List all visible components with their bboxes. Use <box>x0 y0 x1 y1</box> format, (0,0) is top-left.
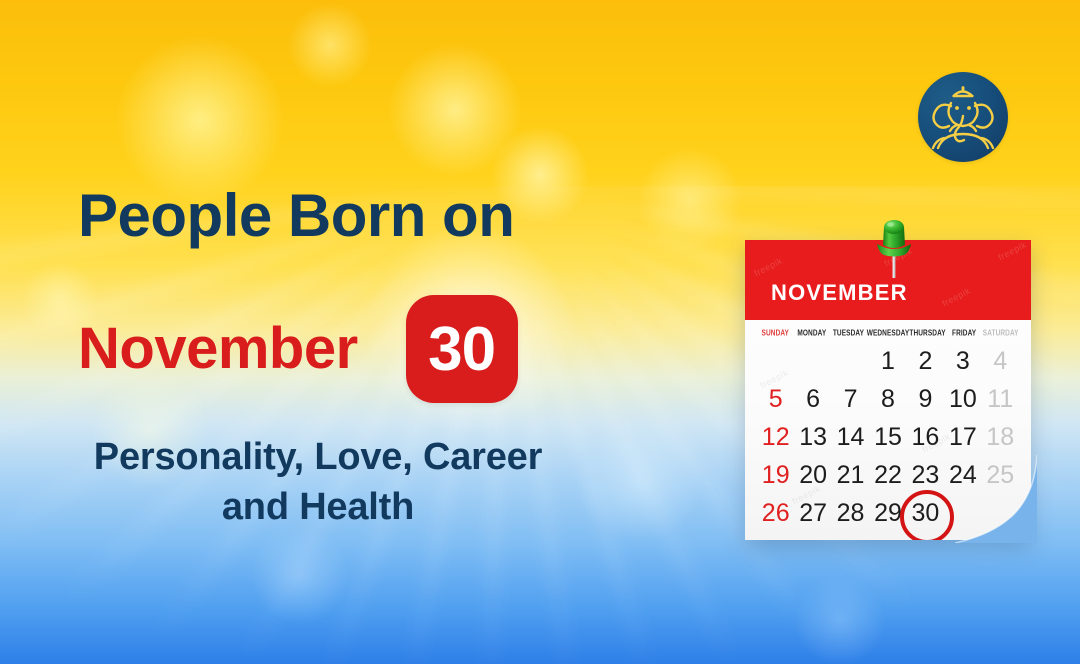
calendar-day-26[interactable]: 26 <box>757 495 794 531</box>
calendar-day-2[interactable]: 2 <box>907 343 944 379</box>
calendar-day-15[interactable]: 15 <box>869 419 906 455</box>
calendar-day-empty <box>832 343 869 379</box>
calendar-weekday-friday: FRIDAY <box>946 329 983 338</box>
month-day-line: November 30 <box>78 295 518 403</box>
calendar-day-21[interactable]: 21 <box>832 457 869 493</box>
calendar-weekday-wednesday: WEDNESDAY <box>867 329 910 338</box>
calendar-day-4[interactable]: 4 <box>982 343 1019 379</box>
watermark: freepik <box>996 240 1028 263</box>
calendar-corner-mask <box>955 455 1037 543</box>
calendar-day-9[interactable]: 9 <box>907 381 944 417</box>
calendar-day-3[interactable]: 3 <box>944 343 981 379</box>
calendar-weekday-saturday: SATURDAY <box>982 329 1019 338</box>
calendar-day-1[interactable]: 1 <box>869 343 906 379</box>
page-title: People Born on <box>78 184 514 248</box>
watermark: freepik <box>752 255 784 278</box>
page-subtitle: Personality, Love, Career and Health <box>78 432 558 532</box>
calendar-day-7[interactable]: 7 <box>832 381 869 417</box>
calendar-day-8[interactable]: 8 <box>869 381 906 417</box>
calendar-weekday-tuesday: TUESDAY <box>830 329 867 338</box>
calendar-day-27[interactable]: 27 <box>794 495 831 531</box>
calendar-day-14[interactable]: 14 <box>832 419 869 455</box>
ganesha-logo <box>918 72 1008 162</box>
calendar-weekday-monday: MONDAY <box>794 329 831 338</box>
calendar-day-10[interactable]: 10 <box>944 381 981 417</box>
calendar-day-6[interactable]: 6 <box>794 381 831 417</box>
calendar-day-11[interactable]: 11 <box>982 381 1019 417</box>
subtitle-line-2: and Health <box>78 482 558 532</box>
calendar-weekday-thursday: THURSDAY <box>909 329 946 338</box>
calendar-weekday-sunday: SUNDAY <box>757 329 794 338</box>
calendar-day-empty <box>794 343 831 379</box>
calendar-day-12[interactable]: 12 <box>757 419 794 455</box>
calendar-weekday-row: SUNDAYMONDAYTUESDAYWEDNESDAYTHURSDAYFRID… <box>757 330 1019 337</box>
day-badge: 30 <box>406 295 518 403</box>
calendar-day-22[interactable]: 22 <box>869 457 906 493</box>
calendar-month-title: NOVEMBER <box>745 280 908 320</box>
month-label: November <box>78 320 358 378</box>
watermark: freepik <box>940 285 972 308</box>
calendar-day-19[interactable]: 19 <box>757 457 794 493</box>
calendar-day-empty <box>757 343 794 379</box>
calendar-day-5[interactable]: 5 <box>757 381 794 417</box>
calendar-day-28[interactable]: 28 <box>832 495 869 531</box>
subtitle-line-1: Personality, Love, Career <box>78 432 558 482</box>
calendar-day-13[interactable]: 13 <box>794 419 831 455</box>
calendar-day-20[interactable]: 20 <box>794 457 831 493</box>
green-pushpin <box>868 216 920 280</box>
